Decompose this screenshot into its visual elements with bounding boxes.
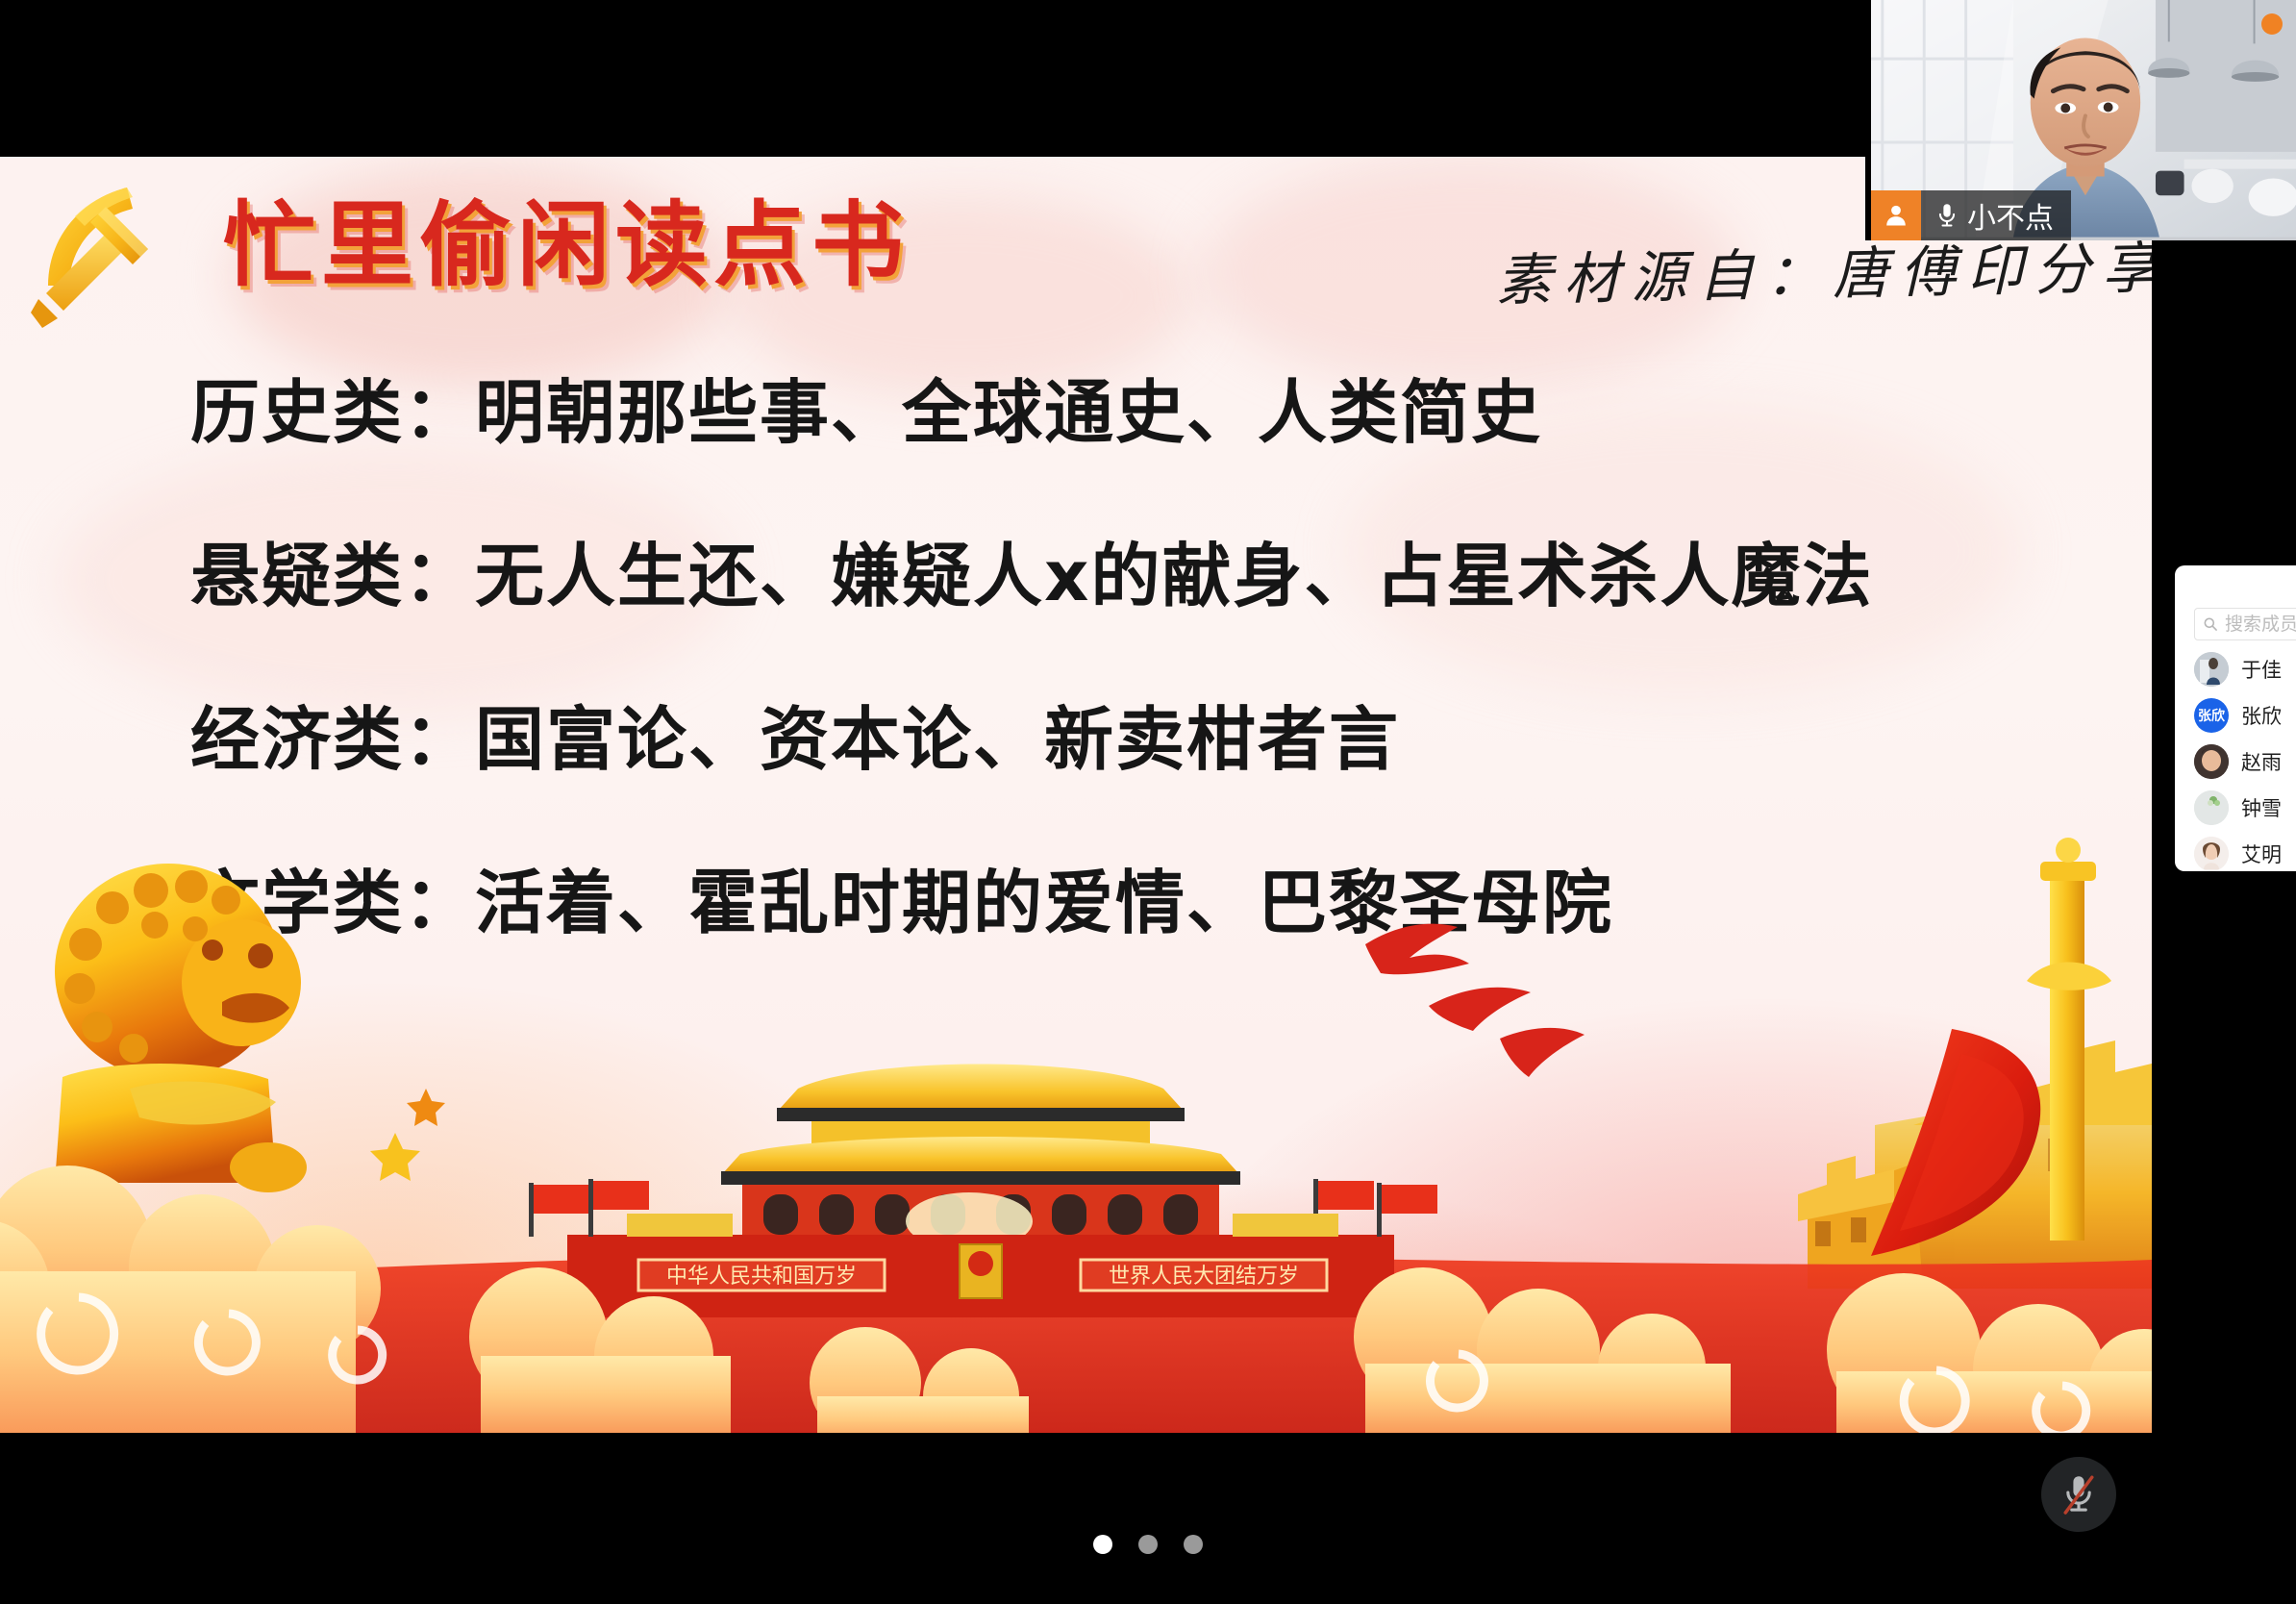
svg-text:世界人民大团结万岁: 世界人民大团结万岁 bbox=[1109, 1265, 1299, 1289]
avatar: 张欣 bbox=[2194, 698, 2229, 733]
member-name: 赵雨 bbox=[2241, 747, 2282, 776]
person-icon bbox=[1871, 190, 1921, 240]
list-item[interactable]: 赵雨 bbox=[2175, 739, 2296, 785]
search-icon bbox=[2203, 615, 2218, 633]
page-dot-3[interactable] bbox=[1184, 1535, 1203, 1554]
member-name: 于佳 bbox=[2241, 655, 2282, 684]
participant-panel[interactable]: 于佳 张欣 张欣 赵雨 钟雪 bbox=[2175, 565, 2296, 871]
page-dot-2[interactable] bbox=[1138, 1535, 1158, 1554]
microphone-icon bbox=[1934, 201, 1959, 230]
mute-button[interactable] bbox=[2041, 1457, 2116, 1532]
list-item[interactable]: 张欣 张欣 bbox=[2175, 692, 2296, 739]
slide-line-literature: 文学类：活着、霍乱时期的爱情、巴黎圣母院 bbox=[190, 868, 2017, 938]
hammer-and-sickle-icon bbox=[13, 178, 187, 337]
member-search-input[interactable] bbox=[2225, 614, 2296, 635]
video-tile-name: 小不点 bbox=[1967, 194, 2071, 237]
avatar bbox=[2194, 744, 2229, 779]
member-name: 张欣 bbox=[2241, 701, 2282, 730]
list-item[interactable]: 钟雪 bbox=[2175, 785, 2296, 831]
list-item[interactable]: 艾明 bbox=[2175, 831, 2296, 871]
page-dot-1[interactable] bbox=[1093, 1535, 1112, 1554]
member-search-box[interactable] bbox=[2194, 608, 2296, 640]
slide-line-history: 历史类：明朝那些事、全球通史、人类简史 bbox=[190, 378, 2017, 447]
page-indicator[interactable] bbox=[0, 1535, 2296, 1554]
shared-slide: 忙里偷闲读点书 素材源自：唐傅印分享 历史类：明朝那些事、全球通史、人类简史 悬… bbox=[0, 157, 2152, 1433]
app-screen: 忙里偷闲读点书 素材源自：唐傅印分享 历史类：明朝那些事、全球通史、人类简史 悬… bbox=[0, 0, 2296, 1604]
member-name: 钟雪 bbox=[2241, 793, 2282, 822]
recording-indicator-icon bbox=[2261, 13, 2283, 35]
avatar bbox=[2194, 790, 2229, 825]
member-name: 艾明 bbox=[2241, 840, 2282, 868]
avatar bbox=[2194, 837, 2229, 871]
member-list[interactable]: 于佳 张欣 张欣 赵雨 钟雪 bbox=[2175, 646, 2296, 871]
self-video-tile[interactable]: 小不点 bbox=[1865, 0, 2296, 240]
list-item[interactable]: 于佳 bbox=[2175, 646, 2296, 692]
slide-body: 历史类：明朝那些事、全球通史、人类简史 悬疑类：无人生还、嫌疑人x的献身、占星术… bbox=[190, 378, 2017, 1032]
slide-line-mystery: 悬疑类：无人生还、嫌疑人x的献身、占星术杀人魔法 bbox=[190, 541, 2017, 611]
video-tile-label: 小不点 bbox=[1871, 190, 2071, 240]
microphone-muted-icon bbox=[2059, 1472, 2099, 1516]
slide-title: 忙里偷闲读点书 bbox=[223, 170, 910, 304]
svg-text:中华人民共和国万岁: 中华人民共和国万岁 bbox=[666, 1265, 857, 1289]
slide-line-economics: 经济类：国富论、资本论、新卖柑者言 bbox=[190, 705, 2017, 774]
avatar bbox=[2194, 652, 2229, 687]
